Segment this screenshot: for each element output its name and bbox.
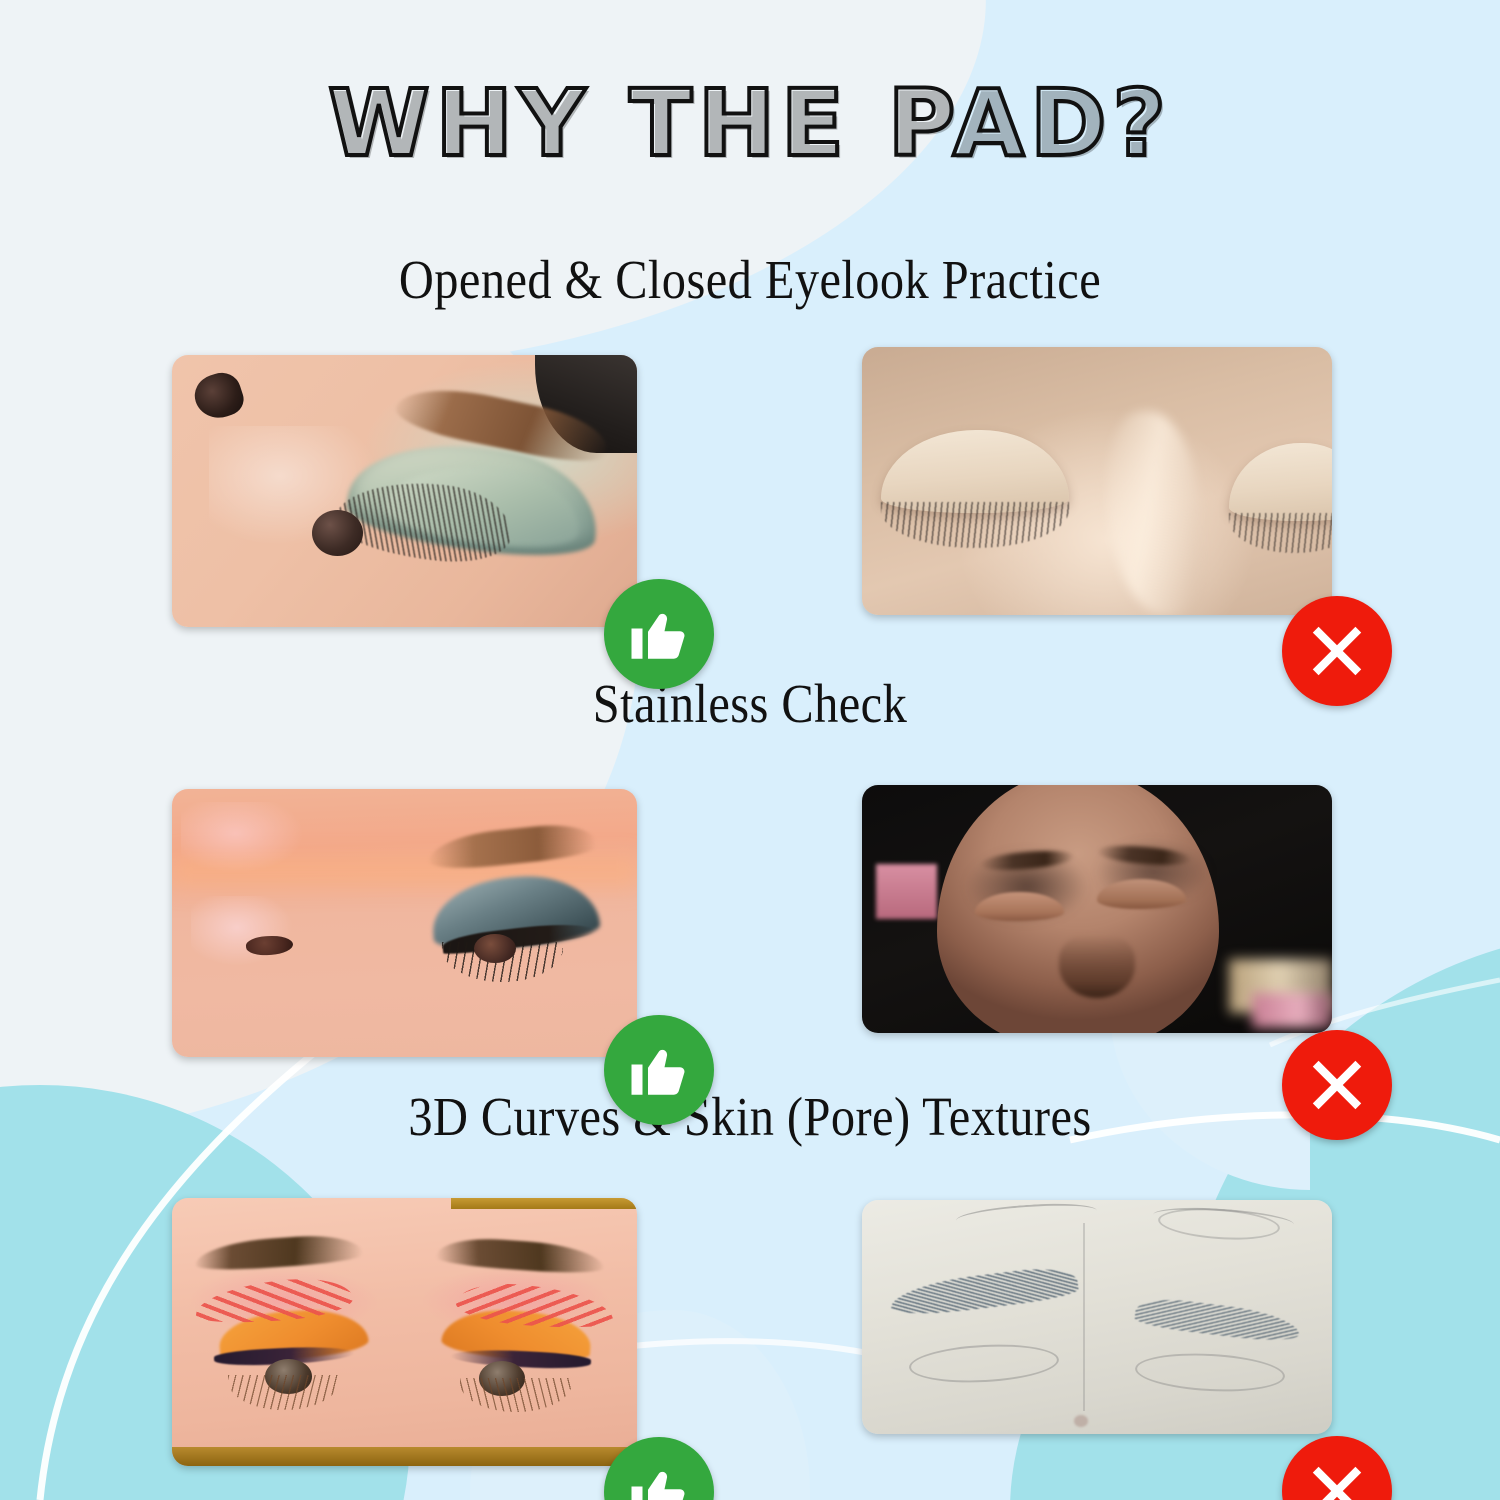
- section-eyelook-practice: Opened & Closed Eyelook Practice: [0, 248, 1500, 629]
- cross-mark-icon: [1304, 618, 1370, 684]
- thumbs-up-icon: [626, 601, 692, 667]
- photo-art-open-eye-green-shadow: [172, 355, 637, 627]
- photo-art-3d-pad-orange-liner: [172, 1198, 637, 1466]
- comparison-row-2: [0, 753, 1500, 1053]
- section-3d-curves: 3D Curves & Skin (Pore) Textures: [0, 1085, 1500, 1466]
- comparison-row-1: [0, 329, 1500, 629]
- cross-mark-icon: [1304, 1458, 1370, 1500]
- photo-good-stainless-pad: [172, 789, 637, 1057]
- photo-bad-closed-mannequin: [862, 347, 1332, 615]
- cross-mark-icon: [1304, 1052, 1370, 1118]
- photo-good-3d-pad: [172, 1198, 637, 1466]
- section-stainless-check: Stainless Check: [0, 672, 1500, 1053]
- infographic-poster: WHY THE PAD? Opened & Closed Eyelook Pra…: [0, 0, 1500, 1500]
- badge-bad-1: [1282, 596, 1392, 706]
- photo-art-flat-practice-sheet: [862, 1200, 1332, 1434]
- photo-bad-stained-mannequin: [862, 785, 1332, 1033]
- comparison-row-3: [0, 1166, 1500, 1466]
- badge-bad-2: [1282, 1030, 1392, 1140]
- photo-good-eyelook-open: [172, 355, 637, 627]
- section-heading-eyelook-practice: Opened & Closed Eyelook Practice: [90, 248, 1410, 311]
- photo-bad-flat-sheet: [862, 1200, 1332, 1434]
- badge-bad-3: [1282, 1436, 1392, 1500]
- section-heading-stainless-check: Stainless Check: [90, 672, 1410, 735]
- badge-good-1: [604, 579, 714, 689]
- badge-good-2: [604, 1015, 714, 1125]
- section-heading-3d-curves: 3D Curves & Skin (Pore) Textures: [90, 1085, 1410, 1148]
- photo-art-closed-mannequin-lids: [862, 347, 1332, 615]
- photo-art-stained-mannequin-head: [862, 785, 1332, 1033]
- thumbs-up-icon: [626, 1037, 692, 1103]
- photo-art-clean-pad-smoky-eye: [172, 789, 637, 1057]
- thumbs-up-icon: [626, 1459, 692, 1500]
- page-title: WHY THE PAD?: [0, 76, 1500, 173]
